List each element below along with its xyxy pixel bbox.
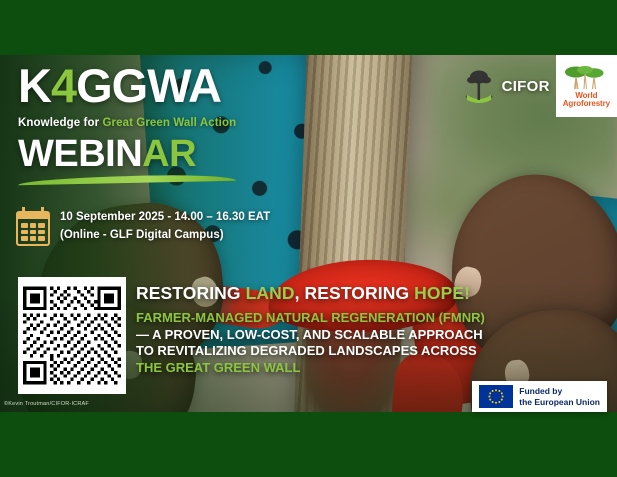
- world-agroforestry-logo[interactable]: World Agroforestry: [556, 55, 617, 117]
- headline-secondary: FARMER-MANAGED NATURAL REGENERATION (FMN…: [136, 310, 566, 377]
- webinar-wordmark: WEBINAR: [18, 135, 236, 173]
- headline-line1-a: RESTORING: [136, 283, 246, 303]
- k4ggwa-part2: GGWA: [76, 59, 221, 112]
- partner-logos: CIFOR World Agroforestry: [453, 55, 617, 117]
- cifor-tree-icon: [459, 66, 499, 106]
- eu-funding-line1: Funded by: [519, 386, 600, 396]
- eu-funding-text: Funded by the European Union: [519, 386, 600, 407]
- tagline-green: Great Green Wall Action: [102, 117, 236, 129]
- eu-funding-badge[interactable]: Funded by the European Union: [472, 381, 607, 412]
- headline-fmnr: FARMER-MANAGED NATURAL REGENERATION (FMN…: [136, 310, 566, 327]
- brand-block: K4GGWA Knowledge for Great Green Wall Ac…: [18, 62, 236, 183]
- k4ggwa-wordmark: K4GGWA: [18, 62, 236, 109]
- cifor-logo-text: CIFOR: [502, 78, 550, 95]
- calendar-icon-days: [21, 223, 45, 241]
- calendar-icon: [16, 211, 50, 246]
- brand-tagline: Knowledge for Great Green Wall Action: [18, 117, 236, 129]
- agroforestry-logo-text: World Agroforestry: [563, 92, 610, 108]
- headline-line5: THE GREAT GREEN WALL: [136, 360, 566, 377]
- k4ggwa-part1: K: [18, 59, 51, 112]
- headline-line3: — A PROVEN, LOW-COST, AND SCALABLE APPRO…: [136, 327, 566, 344]
- k4ggwa-accent-4: 4: [51, 59, 76, 112]
- webinar-poster: K4GGWA Knowledge for Great Green Wall Ac…: [0, 0, 617, 477]
- event-venue: (Online - GLF Digital Campus): [60, 227, 270, 245]
- event-date: 10 September 2025 - 14.00 – 16.30 EAT: [60, 209, 270, 227]
- cifor-logo[interactable]: CIFOR: [453, 55, 556, 117]
- eu-funding-line2: the European Union: [519, 397, 600, 407]
- webinar-accent-ar: AR: [142, 133, 196, 175]
- event-details: 10 September 2025 - 14.00 – 16.30 EAT (O…: [16, 209, 270, 246]
- qr-code-image: [23, 282, 121, 389]
- agroforestry-line2: Agroforestry: [563, 100, 610, 108]
- headline-line4: TO REVITALIZING DEGRADED LANDSCAPES ACRO…: [136, 343, 566, 360]
- headline-primary: RESTORING LAND, RESTORING HOPE!: [136, 283, 566, 304]
- qr-code[interactable]: [18, 277, 126, 394]
- eu-stars: [479, 385, 513, 408]
- tagline-white: Knowledge for: [18, 117, 102, 129]
- headline-line1-c: , RESTORING: [295, 283, 415, 303]
- eu-flag-icon: [479, 385, 513, 408]
- headline-line1-hope: HOPE!: [414, 283, 470, 303]
- headline-line1-land: LAND: [246, 283, 295, 303]
- headline-block: RESTORING LAND, RESTORING HOPE! FARMER-M…: [136, 283, 566, 377]
- calendar-icon-header: [18, 213, 48, 219]
- webinar-white: WEBIN: [18, 133, 142, 175]
- agroforestry-trees-icon: [563, 65, 609, 91]
- event-text: 10 September 2025 - 14.00 – 16.30 EAT (O…: [60, 209, 270, 245]
- cifor-tree-glyph: [459, 66, 499, 106]
- photo-credit: ©Kevin Troutman/CIFOR-ICRAF: [4, 401, 89, 407]
